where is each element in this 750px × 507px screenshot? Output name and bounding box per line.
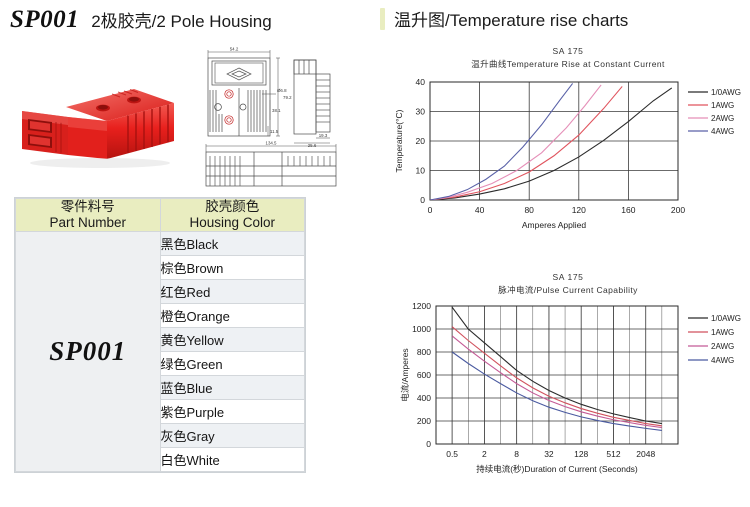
svg-text:200: 200 [671,205,685,215]
color-cell: 棕色Brown [160,256,305,280]
chart2-plot: 0200400600800100012000.528321285122048持续… [388,296,748,491]
part-number-cell: SP001 [16,232,161,472]
svg-text:2048: 2048 [636,449,655,459]
svg-text:1200: 1200 [412,301,431,311]
temperature-rise-chart: SA 175 温升曲线Temperature Rise at Constant … [388,46,748,261]
svg-text:2AWG: 2AWG [711,342,734,351]
left-header-subtitle: 2极胶壳/2 Pole Housing [91,7,271,32]
svg-text:2AWG: 2AWG [711,114,734,123]
chart1-plot: 01020304004080120160200Amperes AppliedTe… [388,70,748,255]
part-number-value: SP001 [49,336,126,366]
svg-text:1/0AWG: 1/0AWG [711,88,741,97]
header-housing-color-cn: 胶壳颜色 [161,199,305,215]
dim-54-2: 54.2 [230,47,239,52]
svg-text:160: 160 [621,205,635,215]
svg-text:200: 200 [417,416,431,426]
svg-text:10: 10 [416,166,426,176]
header-part-number: 零件料号 Part Number [16,199,161,232]
dim-79-2: 79.2 [283,95,292,100]
housing-color-table: 零件料号 Part Number 胶壳颜色 Housing Color SP00… [14,197,306,473]
svg-text:40: 40 [475,205,485,215]
dim-11-5: 11.5 [270,129,279,134]
svg-text:Temperature(°C): Temperature(°C) [394,109,404,172]
color-cell: 蓝色Blue [160,376,305,400]
svg-text:800: 800 [417,347,431,357]
svg-text:128: 128 [574,449,588,459]
product-spec-page: SP001 2极胶壳/2 Pole Housing 温升图/Temperatur… [0,0,750,507]
svg-text:0: 0 [428,205,433,215]
color-cell: 红色Red [160,280,305,304]
dim-25-6: 25.6 [308,143,317,148]
svg-text:30: 30 [416,107,426,117]
svg-text:40: 40 [416,77,426,87]
pulse-current-chart: SA 175 脉冲电流/Pulse Current Capability 020… [388,272,748,497]
svg-text:4AWG: 4AWG [711,127,734,136]
svg-text:电流/Amperes: 电流/Amperes [400,348,410,401]
svg-text:32: 32 [544,449,554,459]
dim-38-1: 38.1 [272,108,281,113]
left-header: SP001 2极胶壳/2 Pole Housing [10,6,272,34]
svg-text:1AWG: 1AWG [711,101,734,110]
svg-text:2: 2 [482,449,487,459]
right-header-title: 温升图/Temperature rise charts [394,6,628,31]
svg-text:600: 600 [417,370,431,380]
chart2-subtitle: 脉冲电流/Pulse Current Capability [388,284,748,296]
table-row: SP001 黑色Black [16,232,305,256]
svg-text:400: 400 [417,393,431,403]
chart1-subtitle: 温升曲线Temperature Rise at Constant Current [388,58,748,70]
color-cell: 紫色Purple [160,400,305,424]
svg-text:20: 20 [416,136,426,146]
svg-text:1AWG: 1AWG [711,328,734,337]
svg-text:0: 0 [426,439,431,449]
svg-text:4AWG: 4AWG [711,356,734,365]
svg-text:Amperes Applied: Amperes Applied [522,220,587,230]
technical-drawing: 54.2 79.2 Ø6.8 38.1 11.5 19.3 25.6 134.5 [196,44,364,190]
chart1-title: SA 175 [388,46,748,56]
svg-text:80: 80 [524,205,534,215]
color-cell: 黑色Black [160,232,305,256]
dim-134-5: 134.5 [266,141,278,146]
header-part-number-en: Part Number [16,215,160,231]
header-part-number-cn: 零件料号 [16,199,160,215]
dim-6-8: Ø6.8 [277,88,287,93]
svg-text:持续电流(秒)Duration of Current (Se: 持续电流(秒)Duration of Current (Seconds) [476,464,638,474]
color-cell: 灰色Gray [160,424,305,448]
header-housing-color-en: Housing Color [161,215,305,231]
product-photo [8,55,188,185]
svg-text:1/0AWG: 1/0AWG [711,314,741,323]
svg-text:0: 0 [420,195,425,205]
color-cell: 绿色Green [160,352,305,376]
table-header-row: 零件料号 Part Number 胶壳颜色 Housing Color [16,199,305,232]
svg-text:1000: 1000 [412,324,431,334]
part-code-title: SP001 [10,6,79,34]
chart2-title: SA 175 [388,272,748,282]
svg-text:512: 512 [606,449,620,459]
svg-text:120: 120 [572,205,586,215]
right-header: 温升图/Temperature rise charts [380,6,628,31]
svg-text:0.5: 0.5 [446,449,458,459]
svg-text:8: 8 [514,449,519,459]
accent-bar-icon [380,8,385,30]
dim-19-3: 19.3 [319,133,328,138]
color-cell: 黄色Yellow [160,328,305,352]
color-cell: 白色White [160,448,305,472]
color-cell: 橙色Orange [160,304,305,328]
header-housing-color: 胶壳颜色 Housing Color [160,199,305,232]
